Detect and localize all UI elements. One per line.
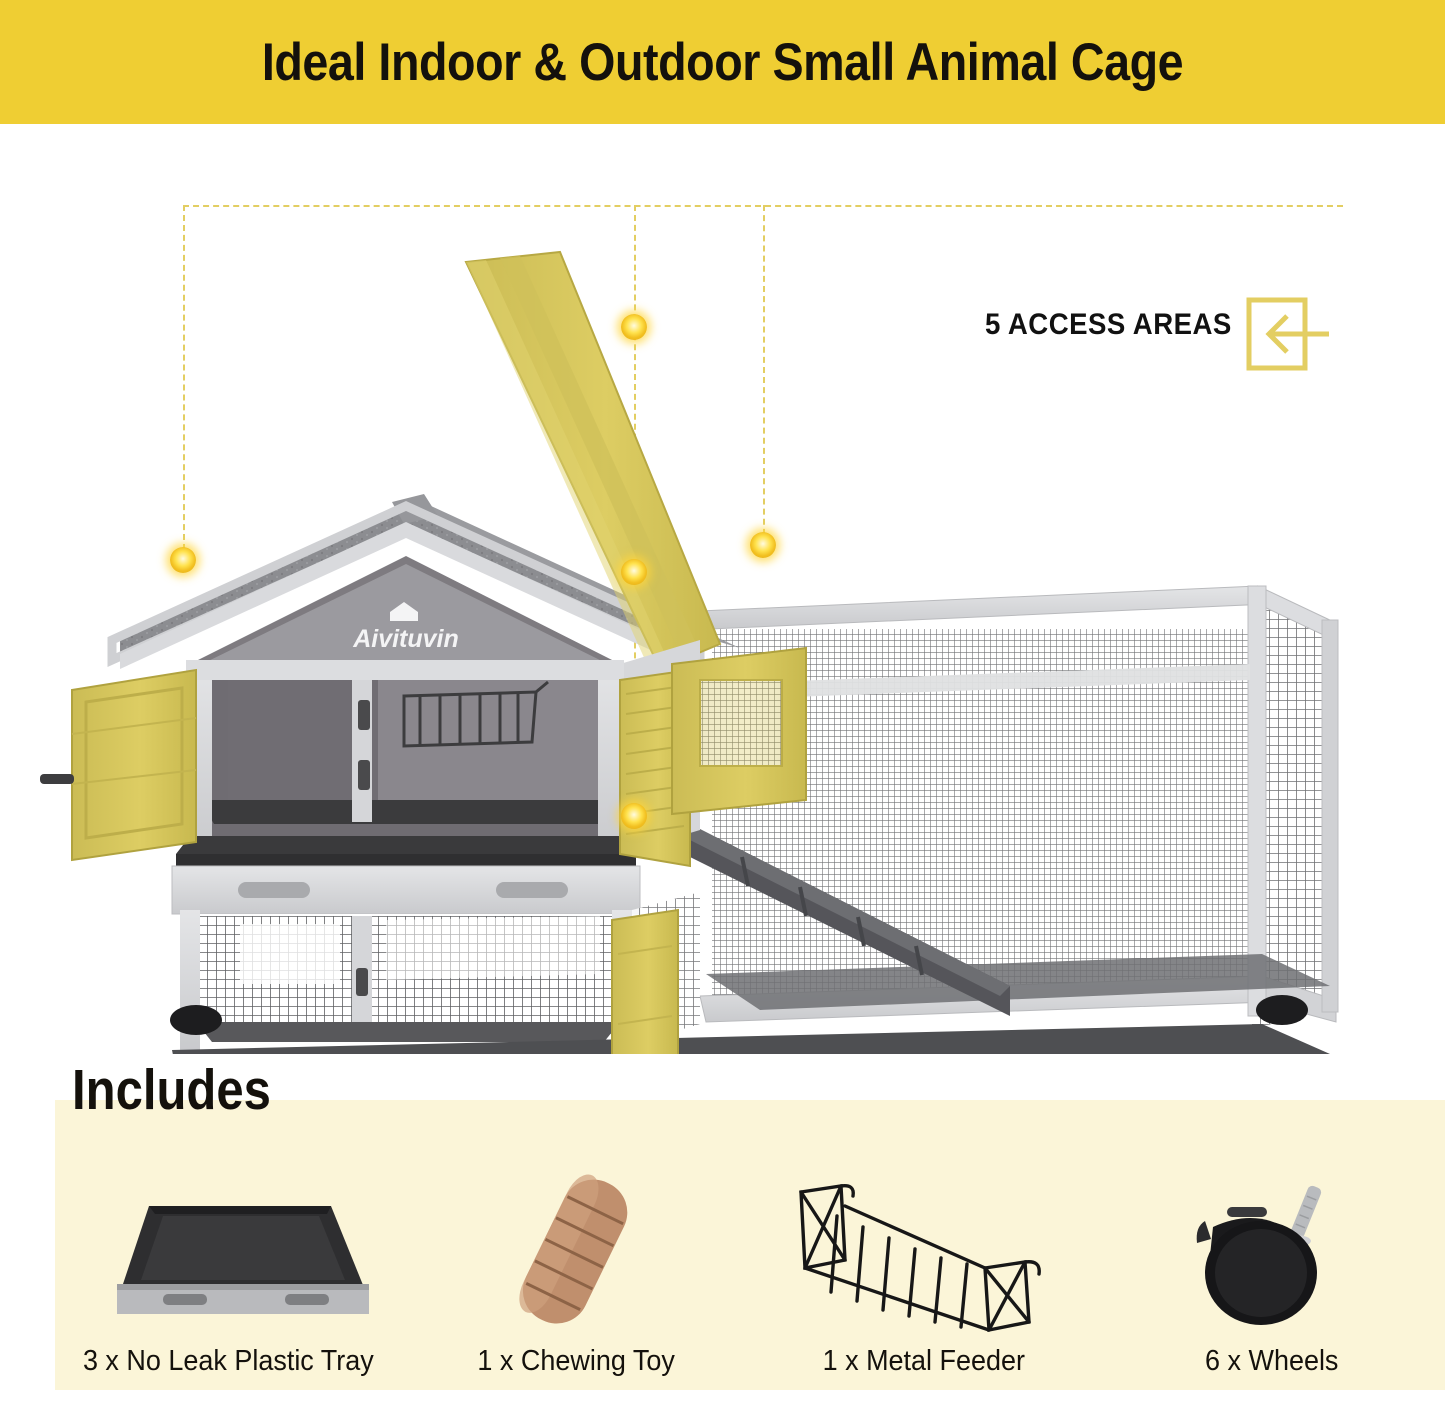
access-marker-roof-lid[interactable] <box>621 314 647 340</box>
door-upper-left-open <box>40 670 196 860</box>
header-banner: Ideal Indoor & Outdoor Small Animal Cage <box>0 0 1445 124</box>
svg-text:Aivituvin: Aivituvin <box>352 625 459 653</box>
access-marker-side-door[interactable] <box>750 532 776 558</box>
includes-item-wheels: 6 x Wheels <box>1098 1130 1445 1418</box>
door-lower-open <box>612 910 678 1054</box>
product-hero: 5 ACCESS AREAS <box>0 124 1445 1054</box>
rabbit-hutch-illustration: Aivituvin <box>0 124 1445 1054</box>
chewing-toy-icon <box>476 1164 676 1339</box>
includes-item-feeder: 1 x Metal Feeder <box>750 1130 1098 1418</box>
upper-pullout-tray <box>172 836 652 914</box>
includes-item-toy: 1 x Chewing Toy <box>403 1130 751 1418</box>
caster-wheel-icon <box>1161 1167 1381 1337</box>
includes-caption: 3 x No Leak Plastic Tray <box>83 1345 374 1378</box>
access-marker-top-door[interactable] <box>170 547 196 573</box>
metal-feeder-icon <box>779 1164 1069 1339</box>
includes-item-tray: 3 x No Leak Plastic Tray <box>55 1130 403 1418</box>
includes-caption: 6 x Wheels <box>1205 1345 1338 1378</box>
door-run-side-open <box>672 648 806 814</box>
includes-caption: 1 x Chewing Toy <box>478 1345 675 1378</box>
includes-items: 3 x No Leak Plastic Tray 1 x Chewing T <box>55 1130 1445 1418</box>
page-title: Ideal Indoor & Outdoor Small Animal Cage <box>262 32 1183 93</box>
plastic-tray-icon <box>79 1172 379 1332</box>
includes-caption: 1 x Metal Feeder <box>823 1345 1025 1378</box>
access-marker-lower-door[interactable] <box>621 803 647 829</box>
includes-heading: Includes <box>72 1057 271 1123</box>
access-marker-middle-door[interactable] <box>621 559 647 585</box>
